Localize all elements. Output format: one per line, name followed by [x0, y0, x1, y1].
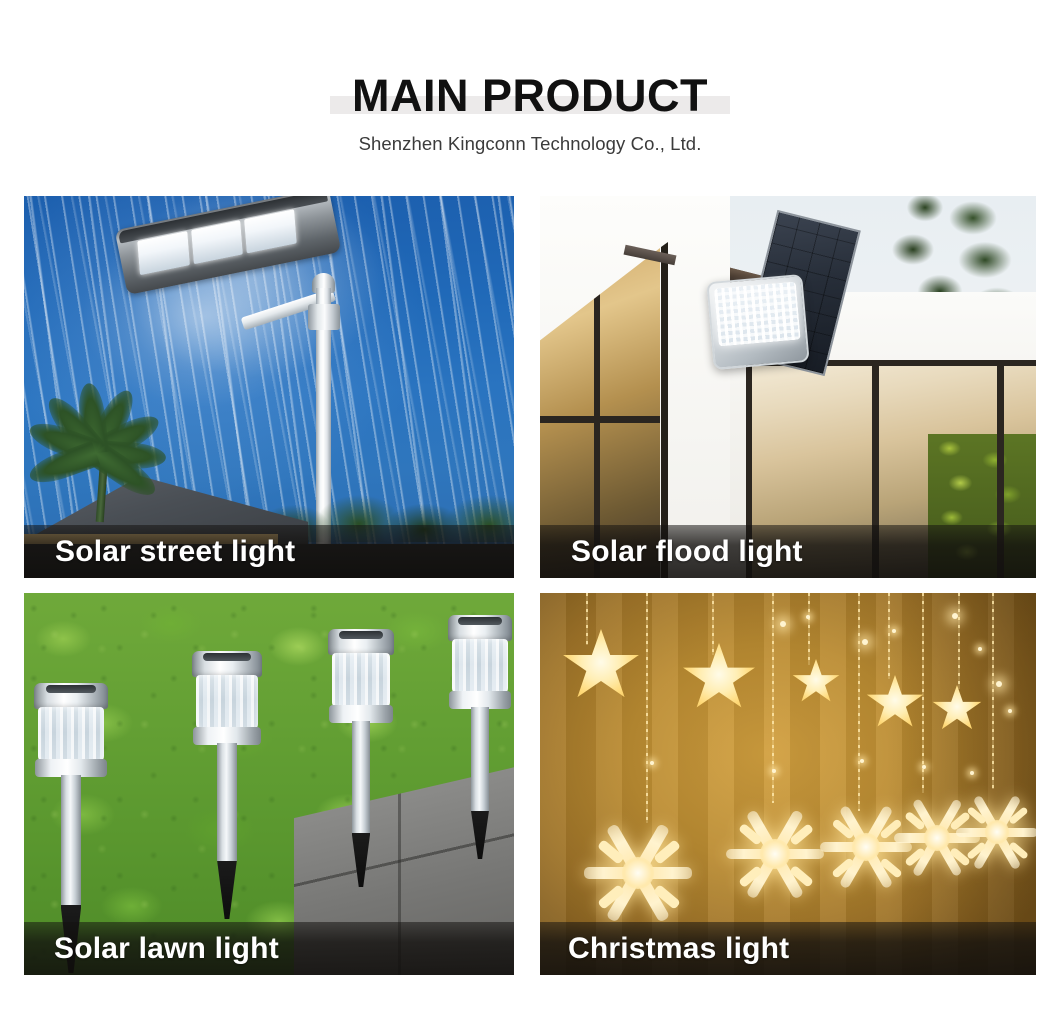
main-product-page: MAIN PRODUCT Shenzhen Kingconn Technolog… — [0, 0, 1060, 1020]
light-strand — [646, 593, 648, 823]
product-card-solar-street-light[interactable]: Solar street light — [24, 196, 514, 578]
solar-lawn-light-photo — [24, 593, 514, 975]
light-spark — [952, 613, 958, 619]
light-strand — [888, 593, 890, 679]
light-spark — [780, 621, 786, 627]
light-strand — [808, 593, 810, 665]
light-strand — [712, 593, 714, 655]
lawn-light-3 — [328, 629, 394, 877]
caption-bar: Solar street light — [24, 525, 514, 578]
light-spark — [860, 759, 864, 763]
light-spark — [862, 639, 868, 645]
light-spark — [922, 765, 926, 769]
light-spark — [978, 647, 982, 651]
product-caption: Solar lawn light — [24, 932, 279, 966]
light-strand — [858, 593, 860, 811]
product-caption: Solar street light — [24, 535, 295, 569]
light-spark — [892, 629, 896, 633]
title-wrap: MAIN PRODUCT — [352, 72, 708, 120]
product-card-christmas-light[interactable]: Christmas light — [540, 593, 1036, 975]
caption-bar: Solar flood light — [540, 525, 1036, 578]
page-title: MAIN PRODUCT — [352, 72, 708, 120]
light-spark — [1008, 709, 1012, 713]
caption-bar: Christmas light — [540, 922, 1036, 975]
light-spark — [806, 615, 810, 619]
snowflake-ornament — [956, 791, 1036, 873]
caption-bar: Solar lawn light — [24, 922, 514, 975]
company-subtitle: Shenzhen Kingconn Technology Co., Ltd. — [0, 133, 1060, 155]
curtain-shadow — [887, 593, 1036, 975]
lawn-light-4 — [448, 615, 512, 851]
snowflake-ornament — [726, 805, 824, 903]
palm-tree — [40, 392, 170, 522]
page-header: MAIN PRODUCT Shenzhen Kingconn Technolog… — [0, 0, 1060, 155]
light-strand — [992, 593, 994, 789]
light-spark — [650, 761, 654, 765]
product-card-solar-flood-light[interactable]: Solar flood light — [540, 196, 1036, 578]
led-flood-light — [706, 274, 809, 370]
product-card-solar-lawn-light[interactable]: Solar lawn light — [24, 593, 514, 975]
light-strand — [922, 593, 924, 793]
solar-flood-light-photo — [540, 196, 1036, 578]
light-spark — [772, 769, 776, 773]
led-array — [714, 282, 801, 347]
christmas-light-photo — [540, 593, 1036, 975]
light-strand — [958, 593, 960, 689]
light-spark — [996, 681, 1002, 687]
product-grid: Solar street light — [24, 196, 1036, 973]
snowflake-ornament — [584, 819, 692, 927]
pole-bracket — [308, 304, 340, 330]
product-caption: Christmas light — [540, 932, 789, 966]
light-spark — [970, 771, 974, 775]
product-caption: Solar flood light — [540, 535, 803, 569]
light-strand — [586, 593, 588, 645]
solar-street-light-photo — [24, 196, 514, 578]
lawn-light-2 — [192, 651, 262, 911]
